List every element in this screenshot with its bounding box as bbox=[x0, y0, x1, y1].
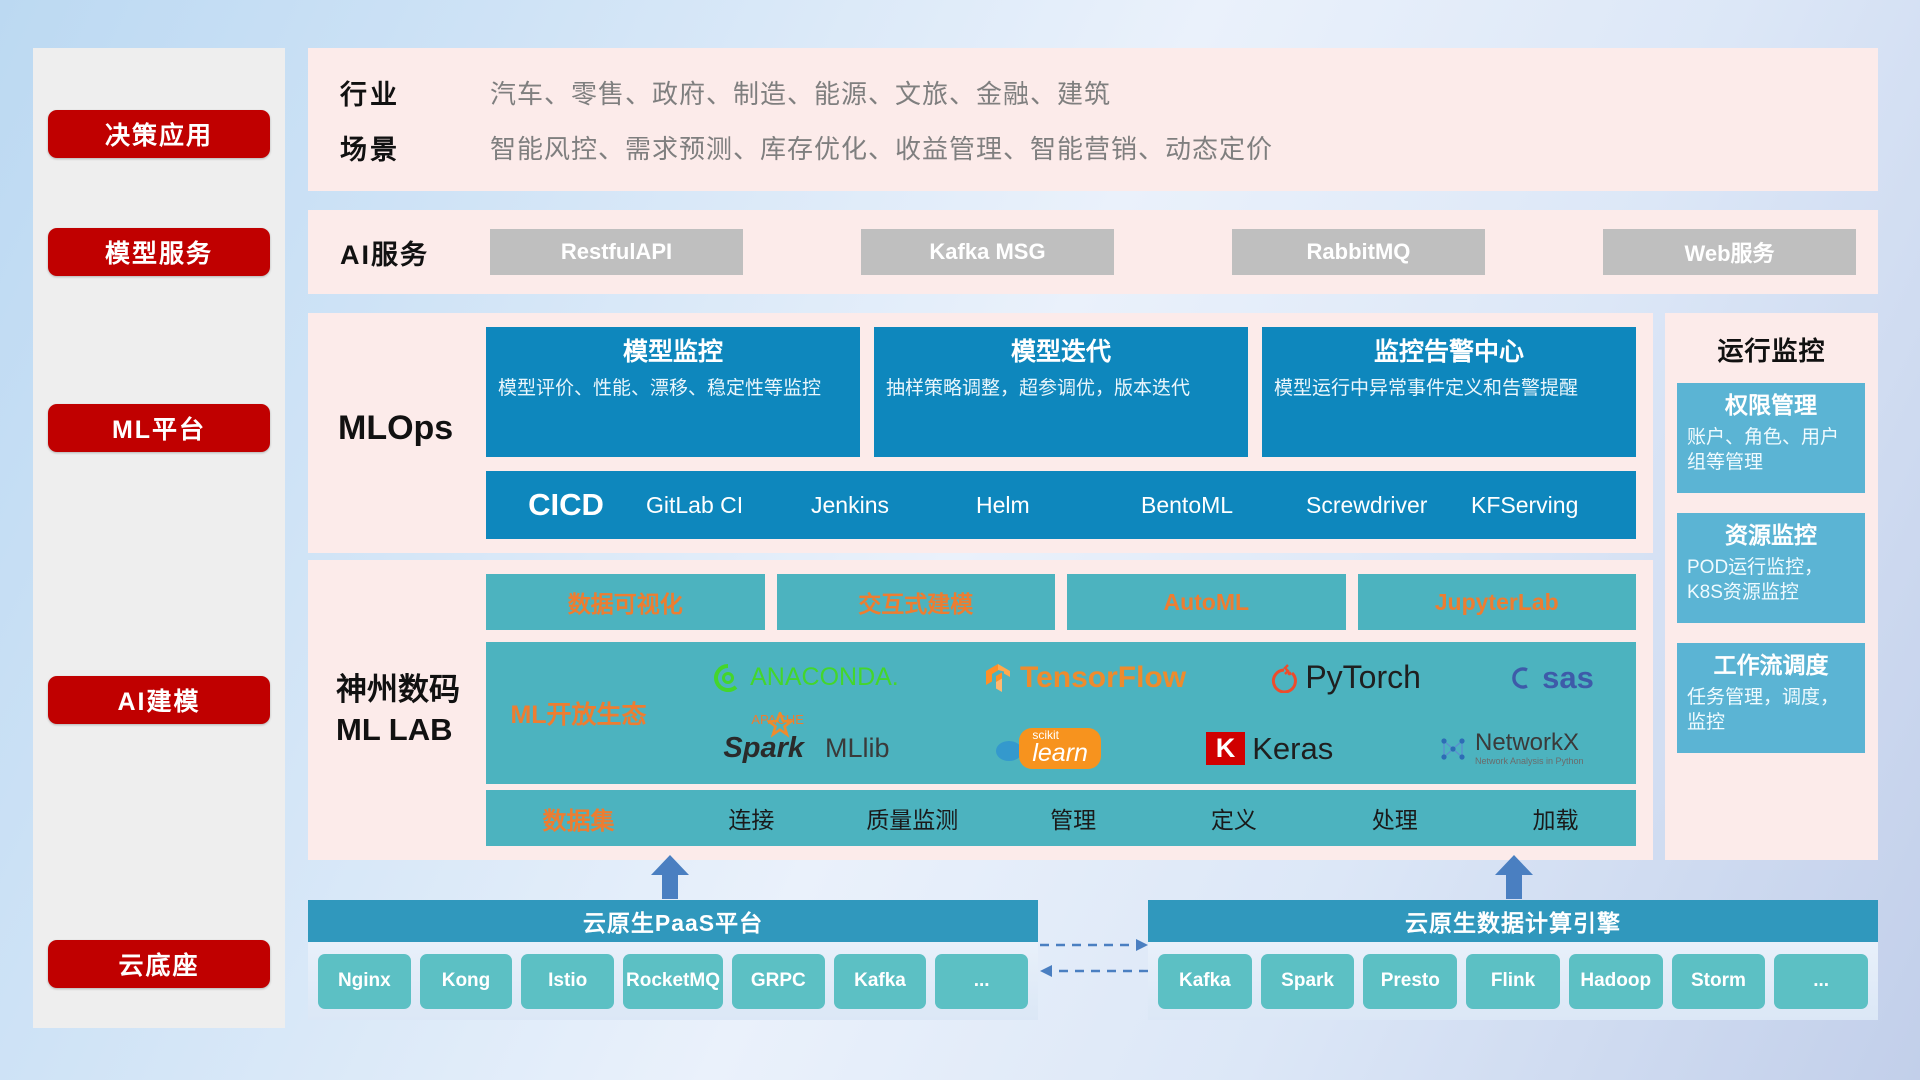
dataset-row: 数据集 连接 质量监测 管理 定义 处理 加载 bbox=[486, 790, 1636, 846]
ai-service-item-label: RabbitMQ bbox=[1307, 239, 1411, 265]
ml-ecosystem-row: ML开放生态 ANACONDA. bbox=[486, 642, 1636, 784]
pytorch-logo: PyTorch bbox=[1270, 659, 1421, 696]
dataset-item-define[interactable]: 定义 bbox=[1153, 801, 1314, 835]
ml-lab-band: 神州数码 ML LAB 数据可视化 交互式建模 AutoML JupyterLa… bbox=[308, 560, 1653, 860]
layer-chip-cloud-base[interactable]: 云底座 bbox=[48, 940, 270, 988]
card-desc: 抽样策略调整，超参调优，版本迭代 bbox=[886, 376, 1236, 402]
networkx-sub-label: Network Analysis in Python bbox=[1475, 757, 1584, 766]
dataset-item-manage[interactable]: 管理 bbox=[993, 801, 1154, 835]
application-row-industry: 行业 汽车、零售、政府、制造、能源、文旅、金融、建筑 bbox=[340, 73, 1878, 112]
dataset-item-process[interactable]: 处理 bbox=[1314, 801, 1475, 835]
anaconda-icon bbox=[713, 663, 743, 693]
industry-value: 汽车、零售、政府、制造、能源、文旅、金融、建筑 bbox=[490, 74, 1111, 111]
cloud-tag-kong[interactable]: Kong bbox=[420, 954, 513, 1009]
cloud-tag-more[interactable]: ... bbox=[935, 954, 1028, 1009]
ai-service-item-restfulapi[interactable]: RestfulAPI bbox=[490, 229, 743, 275]
ai-service-item-label: RestfulAPI bbox=[561, 239, 672, 265]
sas-label: sas bbox=[1542, 660, 1594, 696]
layer-rail bbox=[33, 48, 285, 1028]
ai-service-band: AI服务 RestfulAPI Kafka MSG RabbitMQ Web服务 bbox=[308, 210, 1878, 294]
bidirectional-dashed-arrows-icon bbox=[1040, 935, 1148, 979]
cloud-tag-more[interactable]: ... bbox=[1774, 954, 1868, 1009]
cloud-paas-block: 云原生PaaS平台 Nginx Kong Istio RocketMQ GRPC… bbox=[308, 900, 1038, 1028]
ai-service-item-kafka-msg[interactable]: Kafka MSG bbox=[861, 229, 1114, 275]
cicd-label: CICD bbox=[486, 487, 646, 523]
keras-mark-icon: K bbox=[1206, 732, 1246, 765]
networkx-text: NetworkX Network Analysis in Python bbox=[1475, 731, 1584, 766]
pytorch-icon bbox=[1270, 663, 1298, 693]
monitor-card-workflow[interactable]: 工作流调度 任务管理，调度，监控 bbox=[1677, 643, 1865, 753]
cloud-data-engine-title: 云原生数据计算引擎 bbox=[1148, 900, 1878, 942]
ai-service-item-label: Web服务 bbox=[1684, 236, 1774, 268]
card-desc: 模型运行中异常事件定义和告警提醒 bbox=[1274, 376, 1624, 402]
card-desc: 账户、角色、用户组等管理 bbox=[1687, 426, 1855, 475]
layer-chip-model-service[interactable]: 模型服务 bbox=[48, 228, 270, 276]
card-title: 监控告警中心 bbox=[1274, 335, 1624, 370]
ml-lab-tool-interactive-modeling[interactable]: 交互式建模 bbox=[777, 574, 1056, 630]
cloud-tag-nginx[interactable]: Nginx bbox=[318, 954, 411, 1009]
card-desc: POD运行监控，K8S资源监控 bbox=[1687, 556, 1855, 605]
tensorflow-label: TensorFlow bbox=[1020, 661, 1186, 695]
cloud-tag-kafka[interactable]: Kafka bbox=[1158, 954, 1252, 1009]
cloud-tag-rocketmq[interactable]: RocketMQ bbox=[623, 954, 723, 1009]
mlops-card-list: 模型监控 模型评价、性能、漂移、稳定性等监控 模型迭代 抽样策略调整，超参调优，… bbox=[486, 327, 1636, 457]
up-arrow-paas-icon bbox=[651, 855, 689, 899]
cloud-paas-title: 云原生PaaS平台 bbox=[308, 900, 1038, 942]
networkx-logo: NetworkX Network Analysis in Python bbox=[1438, 731, 1584, 766]
logo-row-1: ANACONDA. TensorFlow bbox=[671, 642, 1636, 713]
ml-lab-tool-list: 数据可视化 交互式建模 AutoML JupyterLab bbox=[486, 574, 1636, 630]
ai-service-item-rabbitmq[interactable]: RabbitMQ bbox=[1232, 229, 1485, 275]
networkx-label: NetworkX bbox=[1475, 731, 1584, 755]
pytorch-label: PyTorch bbox=[1305, 659, 1421, 696]
cloud-data-engine-block: 云原生数据计算引擎 Kafka Spark Presto Flink Hadoo… bbox=[1148, 900, 1878, 1028]
monitor-card-resource[interactable]: 资源监控 POD运行监控，K8S资源监控 bbox=[1677, 513, 1865, 623]
cloud-tag-flink[interactable]: Flink bbox=[1466, 954, 1560, 1009]
mlops-band: MLOps 模型监控 模型评价、性能、漂移、稳定性等监控 模型迭代 抽样策略调整… bbox=[308, 313, 1653, 553]
sas-logo: sas bbox=[1505, 660, 1594, 696]
keras-logo: K Keras bbox=[1206, 731, 1333, 767]
card-desc: 任务管理，调度，监控 bbox=[1687, 686, 1855, 735]
spark-star-icon bbox=[767, 712, 793, 738]
cloud-tag-hadoop[interactable]: Hadoop bbox=[1569, 954, 1663, 1009]
spark-mllib-logo: APACHE Spark MLlib bbox=[723, 732, 889, 765]
cloud-tag-kafka[interactable]: Kafka bbox=[834, 954, 927, 1009]
runtime-monitor-band: 运行监控 权限管理 账户、角色、用户组等管理 资源监控 POD运行监控，K8S资… bbox=[1665, 313, 1878, 860]
keras-label: Keras bbox=[1252, 731, 1333, 767]
dataset-item-quality-monitor[interactable]: 质量监测 bbox=[832, 801, 993, 835]
card-desc: 模型评价、性能、漂移、稳定性等监控 bbox=[498, 376, 848, 402]
cicd-item-screwdriver[interactable]: Screwdriver bbox=[1306, 491, 1471, 520]
scikit-learn-label: learn bbox=[1032, 741, 1088, 766]
cicd-item-kfserving[interactable]: KFServing bbox=[1471, 491, 1636, 520]
layer-chip-label: 云底座 bbox=[118, 946, 199, 982]
cloud-tag-storm[interactable]: Storm bbox=[1672, 954, 1766, 1009]
dataset-item-list: 连接 质量监测 管理 定义 处理 加载 bbox=[671, 801, 1636, 835]
cicd-item-gitlab-ci[interactable]: GitLab CI bbox=[646, 491, 811, 520]
layer-chip-label: ML平台 bbox=[112, 410, 206, 446]
card-title: 工作流调度 bbox=[1687, 651, 1855, 681]
networkx-icon bbox=[1438, 735, 1468, 763]
application-row-scenario: 场景 智能风控、需求预测、库存优化、收益管理、智能营销、动态定价 bbox=[340, 128, 1878, 167]
layer-chip-label: 决策应用 bbox=[105, 116, 213, 152]
mlops-label: MLOps bbox=[338, 409, 453, 448]
application-band: 行业 汽车、零售、政府、制造、能源、文旅、金融、建筑 场景 智能风控、需求预测、… bbox=[308, 48, 1878, 191]
runtime-monitor-title: 运行监控 bbox=[1665, 331, 1878, 368]
industry-label: 行业 bbox=[340, 73, 490, 112]
cloud-data-engine-tag-list: Kafka Spark Presto Flink Hadoop Storm ..… bbox=[1148, 942, 1878, 1020]
dataset-item-connect[interactable]: 连接 bbox=[671, 801, 832, 835]
architecture-diagram: 决策应用 模型服务 ML平台 AI建模 云底座 行业 汽车、零售、政府、制造、能… bbox=[0, 0, 1920, 1080]
scenario-value: 智能风控、需求预测、库存优化、收益管理、智能营销、动态定价 bbox=[490, 129, 1273, 166]
card-title: 模型监控 bbox=[498, 335, 848, 370]
scikit-badge: scikit learn bbox=[1019, 728, 1101, 769]
ai-service-item-label: Kafka MSG bbox=[929, 239, 1045, 265]
anaconda-logo: ANACONDA. bbox=[713, 663, 899, 693]
sas-icon bbox=[1505, 663, 1535, 693]
cloud-tag-istio[interactable]: Istio bbox=[521, 954, 614, 1009]
spark-icon: APACHE Spark bbox=[723, 732, 804, 765]
ml-lab-label-line2: ML LAB bbox=[336, 710, 460, 750]
scikit-learn-logo: scikit learn bbox=[994, 728, 1101, 769]
mllib-label: MLlib bbox=[825, 733, 890, 764]
card-title: 模型迭代 bbox=[886, 335, 1236, 370]
cloud-tag-spark[interactable]: Spark bbox=[1261, 954, 1355, 1009]
ml-lab-tool-data-visualization[interactable]: 数据可视化 bbox=[486, 574, 765, 630]
dataset-label: 数据集 bbox=[486, 801, 671, 836]
mlops-card-alert-center[interactable]: 监控告警中心 模型运行中异常事件定义和告警提醒 bbox=[1262, 327, 1636, 457]
ml-lab-tool-automl[interactable]: AutoML bbox=[1067, 574, 1346, 630]
logo-row-2: APACHE Spark MLlib scik bbox=[671, 713, 1636, 784]
layer-chip-ai-modeling[interactable]: AI建模 bbox=[48, 676, 270, 724]
up-arrow-data-engine-icon bbox=[1495, 855, 1533, 899]
cicd-item-jenkins[interactable]: Jenkins bbox=[811, 491, 976, 520]
card-title: 权限管理 bbox=[1687, 391, 1855, 421]
cicd-bar: CICD GitLab CI Jenkins Helm BentoML Scre… bbox=[486, 471, 1636, 539]
ai-service-item-web[interactable]: Web服务 bbox=[1603, 229, 1856, 275]
cicd-item-helm[interactable]: Helm bbox=[976, 491, 1141, 520]
cloud-tag-grpc[interactable]: GRPC bbox=[732, 954, 825, 1009]
layer-chip-label: 模型服务 bbox=[105, 234, 213, 270]
cloud-paas-tag-list: Nginx Kong Istio RocketMQ GRPC Kafka ... bbox=[308, 942, 1038, 1020]
layer-chip-ml-platform[interactable]: ML平台 bbox=[48, 404, 270, 452]
ml-lab-label-line1: 神州数码 bbox=[336, 670, 460, 710]
card-title: 资源监控 bbox=[1687, 521, 1855, 551]
cicd-item-list: GitLab CI Jenkins Helm BentoML Screwdriv… bbox=[646, 491, 1636, 520]
ai-service-list: RestfulAPI Kafka MSG RabbitMQ Web服务 bbox=[490, 229, 1878, 275]
dataset-item-load[interactable]: 加载 bbox=[1475, 801, 1636, 835]
tensorflow-logo: TensorFlow bbox=[983, 661, 1186, 695]
layer-chip-decision-app[interactable]: 决策应用 bbox=[48, 110, 270, 158]
anaconda-label: ANACONDA. bbox=[750, 663, 899, 692]
cicd-item-bentoml[interactable]: BentoML bbox=[1141, 491, 1306, 520]
tensorflow-icon bbox=[983, 662, 1013, 694]
ml-lab-label: 神州数码 ML LAB bbox=[336, 670, 460, 751]
ml-ecosystem-label: ML开放生态 bbox=[486, 695, 671, 731]
ai-service-label: AI服务 bbox=[340, 233, 490, 272]
monitor-card-permission[interactable]: 权限管理 账户、角色、用户组等管理 bbox=[1677, 383, 1865, 493]
cloud-tag-presto[interactable]: Presto bbox=[1363, 954, 1457, 1009]
mlops-card-model-monitoring[interactable]: 模型监控 模型评价、性能、漂移、稳定性等监控 bbox=[486, 327, 860, 457]
layer-chip-label: AI建模 bbox=[117, 682, 200, 718]
ml-lab-tool-jupyterlab[interactable]: JupyterLab bbox=[1358, 574, 1637, 630]
ml-ecosystem-logos: ANACONDA. TensorFlow bbox=[671, 642, 1636, 784]
scenario-label: 场景 bbox=[340, 128, 490, 167]
mlops-card-model-iteration[interactable]: 模型迭代 抽样策略调整，超参调优，版本迭代 bbox=[874, 327, 1248, 457]
